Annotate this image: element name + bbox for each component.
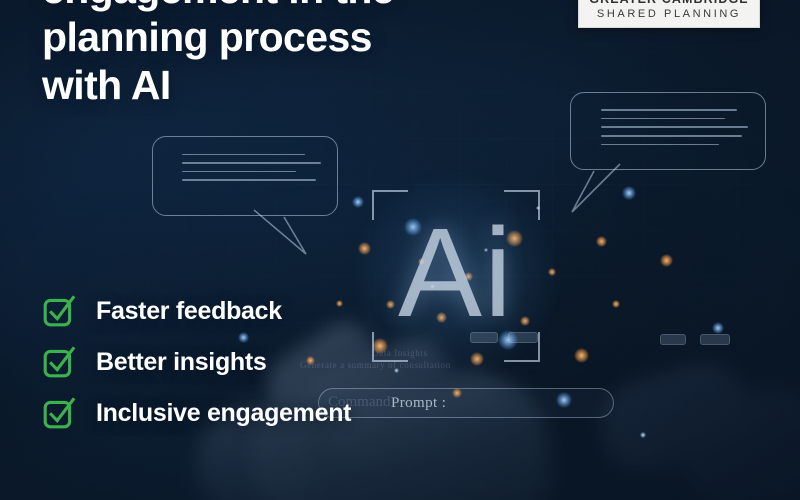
ui-chip-1: [470, 332, 498, 343]
ui-chip-3: [660, 334, 686, 345]
poster-canvas: Ai Command Generate a summary: [0, 0, 800, 500]
speech-bubble-right-lines: [601, 109, 748, 145]
speech-bubble-left-lines: [182, 154, 322, 181]
speech-bubble-left-tail: [248, 208, 318, 260]
prompt-input[interactable]: Prompt :: [318, 388, 614, 418]
list-item: Faster feedback: [42, 294, 351, 328]
ui-chip-2: [508, 332, 538, 343]
speech-bubble-right-box: [570, 92, 766, 170]
organisation-logo: GREATER CAMBRIDGE SHARED PLANNING: [578, 0, 760, 28]
benefits-checklist: Faster feedback Better insights Inclusiv…: [42, 294, 351, 430]
headline-line-3: with AI: [42, 62, 512, 110]
logo-line-primary: GREATER CAMBRIDGE: [589, 0, 748, 6]
speech-bubble-right: [570, 92, 766, 170]
list-item: Better insights: [42, 345, 351, 379]
logo-line-secondary: SHARED PLANNING: [597, 8, 741, 20]
prompt-label: Prompt :: [391, 395, 446, 412]
headline-line-2: planning process: [42, 14, 512, 62]
list-item-label: Better insights: [96, 348, 267, 377]
check-square-icon: [42, 345, 76, 379]
speech-bubble-left: [152, 136, 338, 216]
list-item: Inclusive engagement: [42, 396, 351, 430]
check-square-icon: [42, 396, 76, 430]
speech-bubble-right-tail: [564, 162, 640, 218]
page-title: engagement in the planning process with …: [42, 0, 512, 110]
list-item-label: Faster feedback: [96, 297, 282, 326]
ui-chip-4: [700, 334, 730, 345]
headline-line-1: engagement in the: [42, 0, 512, 14]
check-square-icon: [42, 294, 76, 328]
list-item-label: Inclusive engagement: [96, 399, 351, 428]
speech-bubble-left-box: [152, 136, 338, 216]
